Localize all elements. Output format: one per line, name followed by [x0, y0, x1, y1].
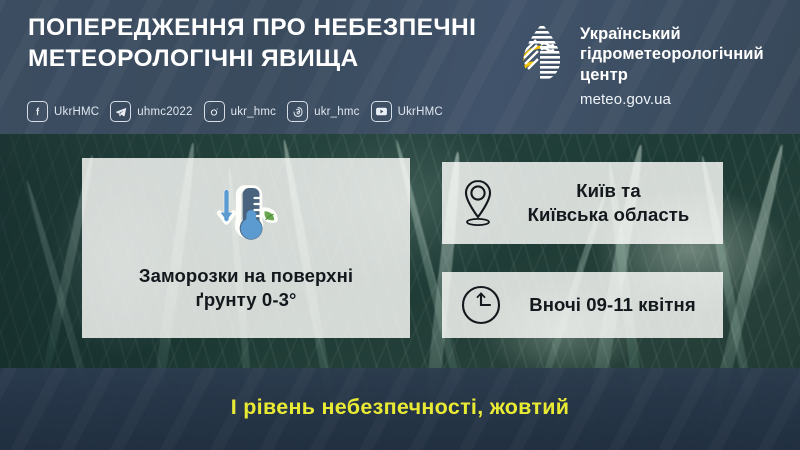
social-link-threads[interactable]: ukr_hmc: [287, 101, 360, 122]
hazard-card: Заморозки на поверхні ґрунту 0-3°: [82, 158, 410, 338]
organization-name: Український гідрометеорологічний центр: [580, 24, 764, 85]
water-drop-logo-icon: [518, 22, 566, 84]
time-period: Вночі 09-11 квітня: [516, 293, 709, 317]
social-link-instagram[interactable]: ukr_hmc: [204, 101, 277, 122]
social-handle-facebook: UkrHMC: [54, 106, 99, 118]
social-handle-threads: ukr_hmc: [314, 106, 360, 118]
weather-warning-poster: ПОПЕРЕДЖЕННЯ ПРО НЕБЕЗПЕЧНІ МЕТЕОРОЛОГІЧ…: [0, 0, 800, 450]
hazard-description: Заморозки на поверхні ґрунту 0-3°: [139, 264, 353, 312]
clock-icon: [460, 284, 502, 326]
social-link-youtube[interactable]: UkrHMC: [371, 101, 443, 122]
social-handle-telegram: uhmc2022: [137, 106, 192, 118]
social-handle-youtube: UkrHMC: [398, 106, 443, 118]
social-links-bar: UkrHMC uhmc2022: [27, 101, 443, 122]
youtube-icon: [371, 101, 392, 122]
organization-website: meteo.gov.ua: [580, 91, 764, 108]
social-link-facebook[interactable]: UkrHMC: [27, 101, 99, 122]
time-card: Вночі 09-11 квітня: [442, 272, 723, 338]
social-handle-instagram: ukr_hmc: [231, 106, 277, 118]
thermometer-frost-icon: [211, 180, 281, 252]
map-pin-icon: [460, 178, 496, 228]
region-name: Київ та Київська область: [510, 179, 707, 228]
danger-level-text: І рівень небезпечності, жовтий: [231, 395, 570, 420]
instagram-icon: [204, 101, 225, 122]
region-card: Київ та Київська область: [442, 162, 723, 244]
facebook-icon: [27, 101, 48, 122]
organization-logo[interactable]: Український гідрометеорологічний центр m…: [518, 22, 764, 108]
header-band: ПОПЕРЕДЖЕННЯ ПРО НЕБЕЗПЕЧНІ МЕТЕОРОЛОГІЧ…: [0, 0, 800, 134]
page-title: ПОПЕРЕДЖЕННЯ ПРО НЕБЕЗПЕЧНІ МЕТЕОРОЛОГІЧ…: [28, 12, 498, 75]
telegram-icon: [110, 101, 131, 122]
danger-level-band: І рівень небезпечності, жовтий: [0, 368, 800, 450]
social-link-telegram[interactable]: uhmc2022: [110, 101, 192, 122]
threads-icon: [287, 101, 308, 122]
